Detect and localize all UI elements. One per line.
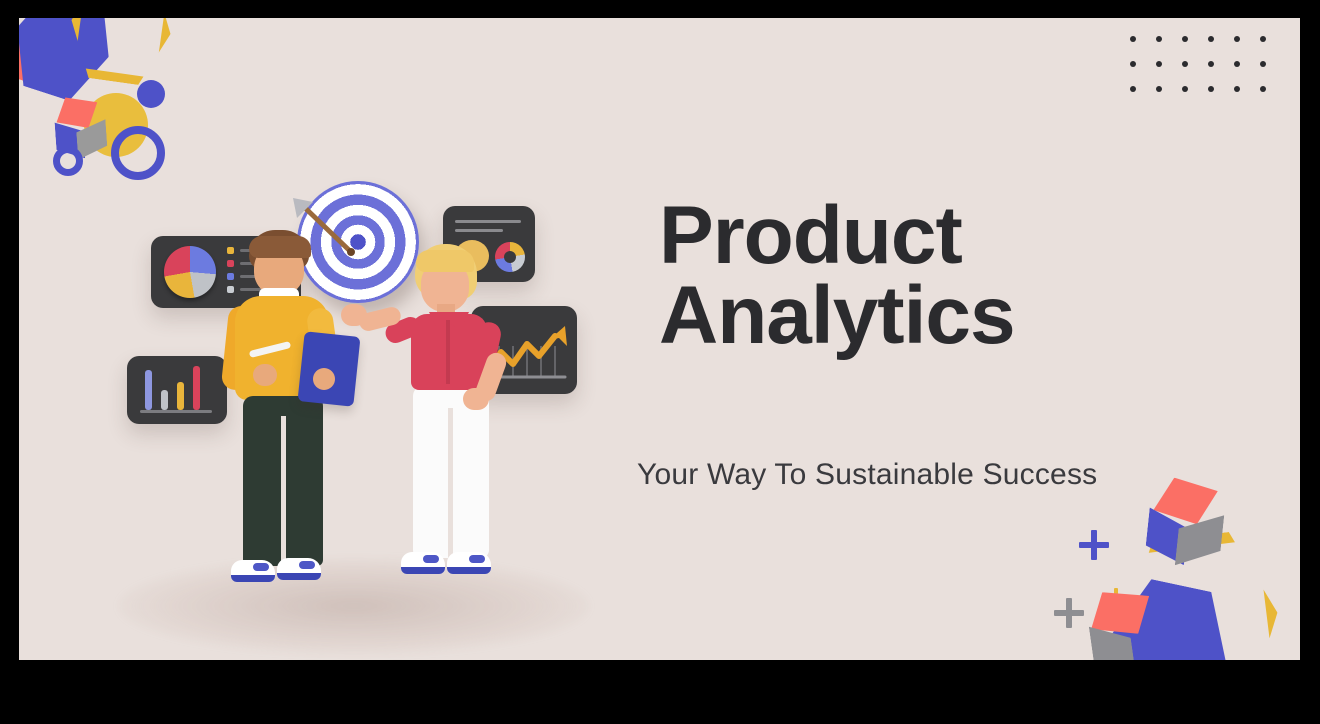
- title-line-2: Analytics: [659, 276, 1259, 356]
- bar-chart-card: [127, 356, 227, 424]
- male-fringe: [249, 236, 311, 258]
- male-shoe-right: [277, 558, 321, 580]
- female-hand-extended: [341, 304, 367, 326]
- gray-plus-icon: [1054, 598, 1084, 628]
- female-shoe-right: [447, 552, 491, 574]
- hero-illustration: [19, 18, 619, 660]
- blue-plus-icon: [1079, 530, 1109, 560]
- dot-grid-decoration: [1130, 36, 1286, 111]
- male-leg-gap: [281, 416, 286, 564]
- female-bangs: [416, 250, 474, 272]
- slide-frame: Product Analytics Your Way To Sustainabl…: [0, 0, 1320, 724]
- slide-canvas: Product Analytics Your Way To Sustainabl…: [19, 18, 1300, 660]
- bar-chart-baseline: [140, 410, 212, 413]
- bar-chart-graphic: [145, 368, 200, 410]
- page-subtitle: Your Way To Sustainable Success: [637, 458, 1097, 492]
- pie-chart-graphic: [164, 246, 216, 298]
- female-leg-gap: [448, 408, 453, 558]
- headline-block: Product Analytics Your Way To Sustainabl…: [659, 196, 1259, 357]
- female-shoe-left: [401, 552, 445, 574]
- male-hand-left: [253, 364, 277, 386]
- cube-3d-icon-lower: [1084, 580, 1188, 660]
- character-male-presenter: [215, 230, 365, 598]
- female-hand-on-hip: [463, 388, 489, 410]
- female-placket: [446, 320, 450, 384]
- title-line-1: Product: [659, 190, 962, 281]
- cube-3d-icon-upper: [1143, 475, 1244, 576]
- character-female-presenter: [389, 236, 539, 598]
- male-shoe-left: [231, 560, 275, 582]
- male-hand-right: [313, 368, 335, 390]
- page-title: Product Analytics: [659, 196, 1259, 357]
